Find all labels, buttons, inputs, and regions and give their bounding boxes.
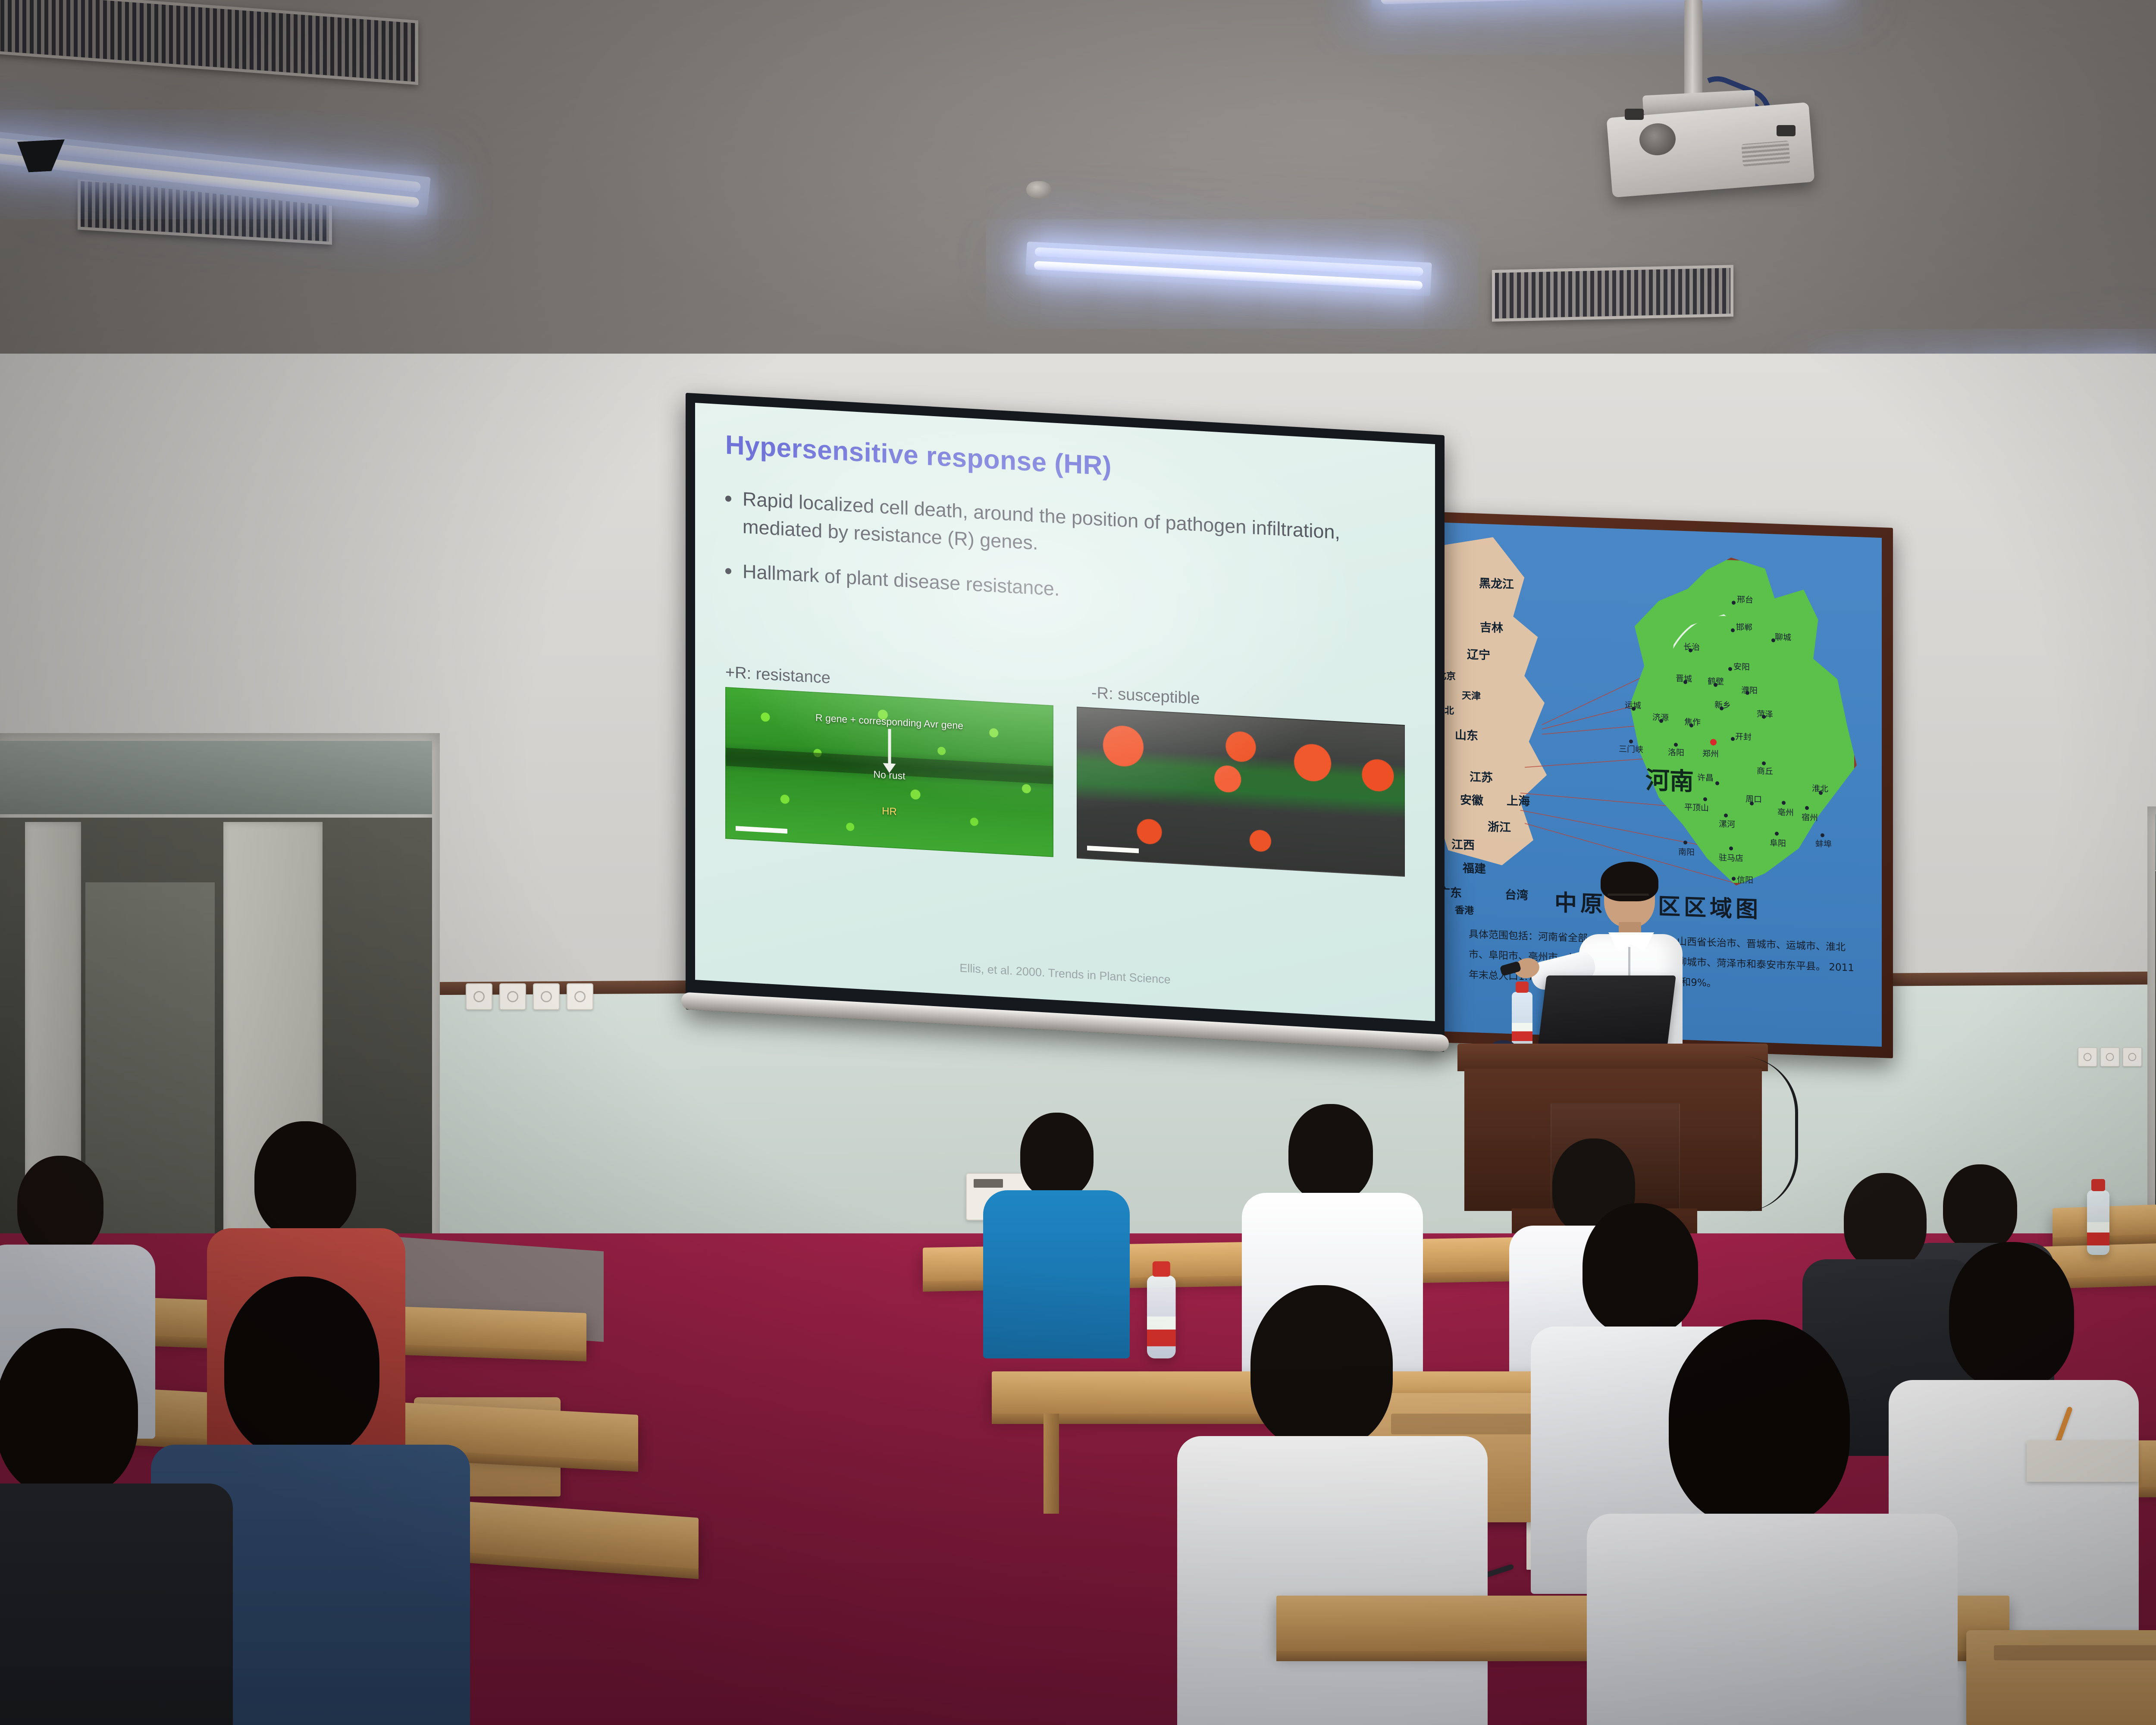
projector-foot	[1777, 125, 1796, 136]
map-city-label: 安阳	[1733, 660, 1750, 672]
door-right[interactable]	[2147, 806, 2156, 1238]
map-city-label: 驻马店	[1719, 851, 1743, 864]
light-switch[interactable]	[2123, 1048, 2142, 1067]
microscopy-image-resistant: R gene + corresponding Avr gene No rust …	[725, 687, 1053, 857]
smoke-detector-icon	[1026, 181, 1051, 198]
projector-foot	[1625, 109, 1644, 120]
map-city-label: 平顶山	[1684, 801, 1709, 813]
person-torso	[1587, 1514, 1958, 1725]
person-head	[1288, 1104, 1373, 1201]
map-city-label: 济源	[1652, 711, 1669, 723]
map-city-label: 焦作	[1684, 715, 1701, 728]
map-city-dot	[1729, 847, 1733, 850]
person-head	[1583, 1203, 1698, 1335]
map-city-label: 阜阳	[1770, 837, 1786, 849]
person-head	[224, 1276, 379, 1458]
map-province-label: 黑龙江	[1479, 574, 1514, 592]
map-province-label: 吉林	[1480, 618, 1503, 636]
map-city-label: 淮北	[1812, 782, 1828, 794]
air-vent-grille	[1492, 265, 1733, 322]
map-province-label: 安徽	[1460, 790, 1483, 808]
laptop[interactable]	[1537, 975, 1676, 1051]
notebook-page[interactable]	[2027, 1440, 2139, 1482]
light-switch[interactable]	[2100, 1048, 2120, 1067]
map-city-label: 洛阳	[1668, 746, 1684, 758]
audience-member	[1570, 1320, 1958, 1725]
map-city-label: 宿州	[1802, 811, 1818, 823]
slide-surface: Hypersensitive response (HR) Rapid local…	[695, 403, 1435, 1021]
lecture-hall-photo: 学术报告厅管理制度 黑龙江 吉林 辽宁 北京 天津 河北 山东 江苏 安徽 上	[0, 0, 2156, 1725]
map-city-dot	[1731, 628, 1735, 632]
map-province-label: 江西	[1451, 835, 1475, 853]
bullet-dot-icon	[725, 496, 731, 502]
map-city-dot	[1728, 667, 1732, 671]
map-city-label: 周口	[1745, 793, 1762, 805]
map-city-label: 濮阳	[1741, 684, 1758, 696]
map-city-dot	[1703, 797, 1707, 801]
slide-figure-row: +R: resistance R gene + corresponding Av…	[725, 663, 1405, 877]
glasses-icon	[1608, 894, 1649, 900]
map-city-dot	[1732, 601, 1736, 605]
bottle-cap	[1516, 982, 1529, 993]
map-capital-label: 郑州	[1702, 747, 1719, 759]
map-city-dot	[1782, 801, 1786, 805]
projector-vent-icon	[1741, 141, 1790, 166]
microscopy-image-susceptible	[1077, 707, 1405, 877]
map-city-label: 亳州	[1777, 806, 1794, 818]
map-city-dot	[1715, 781, 1719, 785]
ceiling-projector	[1561, 0, 1828, 241]
map-province-label: 江苏	[1470, 768, 1493, 785]
map-city-label: 三门峡	[1619, 743, 1643, 755]
scale-bar-icon	[1087, 846, 1139, 853]
light-switch[interactable]	[533, 983, 560, 1010]
map-city-label: 开封	[1735, 730, 1752, 742]
map-province-label: 山东	[1455, 726, 1478, 743]
figure-annotation: HR	[726, 797, 1053, 827]
bullet-dot-icon	[725, 568, 731, 574]
water-bottle[interactable]	[1512, 992, 1532, 1051]
map-province-label: 辽宁	[1467, 645, 1490, 663]
light-switch-panel[interactable]	[466, 983, 593, 1010]
slide-bullet-text: Hallmark of plant disease resistance.	[743, 558, 1059, 603]
audience-member	[0, 1328, 233, 1725]
person-head	[1250, 1285, 1393, 1449]
light-switch-panel-right[interactable]	[2078, 1048, 2142, 1067]
map-city-label: 聊城	[1775, 630, 1791, 643]
map-city-label: 运城	[1625, 699, 1641, 711]
map-city-dot	[1775, 831, 1779, 835]
person-torso	[0, 1483, 233, 1725]
map-city-dot	[1724, 813, 1728, 817]
map-city-label: 许昌	[1697, 771, 1714, 783]
door-transom-window	[0, 741, 432, 814]
map-city-dot	[1731, 737, 1735, 741]
map-highlight-province-label: 河南	[1645, 761, 1694, 797]
map-city-label: 新乡	[1714, 699, 1731, 711]
map-city-dot	[1805, 806, 1809, 810]
map-city-label: 长治	[1683, 640, 1700, 652]
map-city-label: 商丘	[1757, 765, 1773, 777]
map-city-label: 漯河	[1719, 818, 1735, 830]
map-city-label: 鹤壁	[1708, 675, 1724, 687]
projection-screen: Hypersensitive response (HR) Rapid local…	[686, 393, 1445, 1052]
map-province-label: 浙江	[1488, 817, 1511, 835]
light-switch[interactable]	[499, 983, 526, 1010]
person-head	[254, 1121, 356, 1239]
figure-panel-susceptible: -R: susceptible	[1077, 683, 1405, 877]
person-torso	[1177, 1436, 1488, 1725]
slide-title: Hypersensitive response (HR)	[725, 430, 1405, 498]
power-socket[interactable]	[466, 983, 492, 1010]
map-city-label: 邯郸	[1736, 621, 1752, 633]
bottle-label	[1512, 1023, 1532, 1041]
china-mainland-outline	[1434, 535, 1645, 870]
map-city-label: 菏泽	[1757, 708, 1773, 720]
person-head	[0, 1328, 138, 1496]
chair[interactable]	[1966, 1630, 2156, 1725]
map-city-label: 晋城	[1676, 672, 1692, 684]
light-switch[interactable]	[567, 983, 593, 1010]
scale-bar-icon	[736, 826, 787, 834]
map-city-dot	[1821, 833, 1824, 837]
map-province-label: 天津	[1462, 688, 1481, 703]
podium-surface	[1457, 1044, 1768, 1071]
person-torso	[983, 1190, 1130, 1358]
map-city-label: 蚌埠	[1815, 837, 1832, 850]
person-head	[1020, 1113, 1094, 1198]
person-head	[1949, 1242, 2074, 1389]
power-cable	[1742, 1057, 1798, 1212]
power-socket[interactable]	[2078, 1048, 2097, 1067]
person-head	[1669, 1320, 1850, 1527]
figure-panel-resistance: +R: resistance R gene + corresponding Av…	[725, 663, 1053, 857]
map-capital-dot	[1710, 739, 1717, 746]
map-city-label: 南阳	[1678, 846, 1695, 858]
map-city-dot	[1683, 841, 1687, 844]
person-head	[17, 1156, 103, 1255]
audience-member	[983, 1113, 1130, 1354]
down-arrow-icon	[888, 729, 891, 764]
map-city-label: 邢台	[1737, 593, 1753, 605]
